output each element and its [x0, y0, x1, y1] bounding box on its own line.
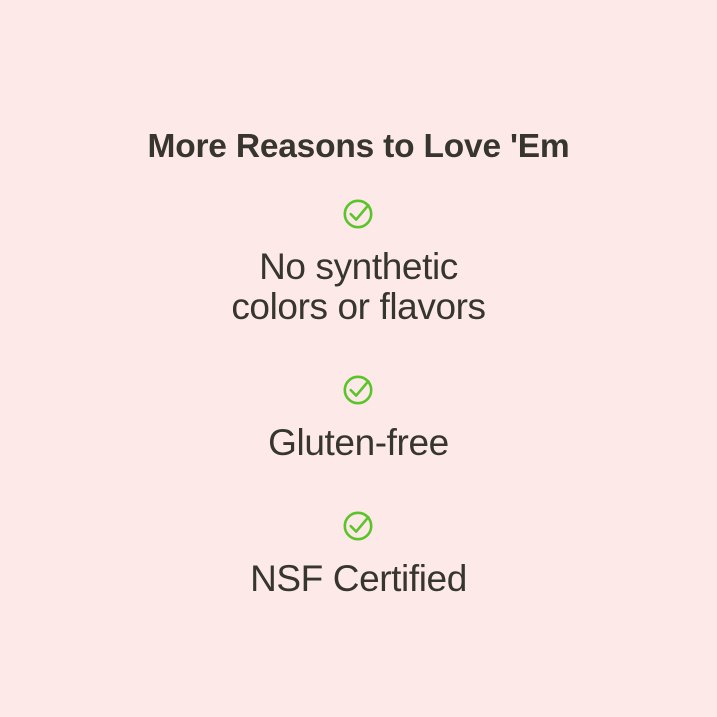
feature-label: No synthetic colors or flavors — [231, 230, 485, 327]
feature-label-line: NSF Certified — [250, 559, 467, 599]
feature-label-line: Gluten-free — [268, 423, 449, 463]
feature-item-gluten-free: Gluten-free — [0, 372, 717, 463]
promo-card: More Reasons to Love 'Em No synthetic co… — [0, 0, 717, 717]
feature-label-line: colors or flavors — [231, 287, 485, 327]
feature-item-nsf-certified: NSF Certified — [0, 508, 717, 599]
feature-item-no-synthetic: No synthetic colors or flavors — [0, 196, 717, 327]
check-circle-icon — [342, 196, 376, 230]
feature-label: NSF Certified — [250, 542, 467, 599]
page-title: More Reasons to Love 'Em — [0, 129, 717, 166]
check-circle-icon — [342, 508, 376, 542]
feature-list: No synthetic colors or flavors Gluten-fr… — [0, 196, 717, 599]
feature-label: Gluten-free — [268, 406, 449, 463]
check-circle-icon — [342, 372, 376, 406]
feature-label-line: No synthetic — [231, 247, 485, 287]
